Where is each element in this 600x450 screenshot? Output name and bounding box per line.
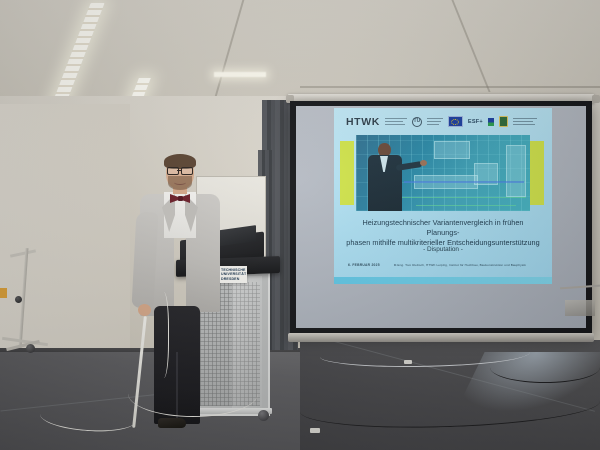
screen-bottom-bar [288, 333, 594, 342]
htwk-subtitle-lines [385, 118, 407, 125]
slide-accent-bar-right [530, 141, 544, 205]
slide-byline: M.Eng. Tom Rudisch, HTWK Leipzig, Instit… [394, 263, 526, 267]
slide-date: 6. Februar 2025 [348, 263, 380, 267]
flipchart-marker [0, 288, 7, 298]
tud-logo-lines [427, 118, 443, 125]
power-plug [404, 360, 412, 364]
slide-hero-photo [356, 135, 530, 211]
power-plug [310, 428, 320, 433]
left-wall [0, 104, 130, 354]
presenter-cane [132, 316, 147, 428]
floor-cable [128, 370, 258, 417]
tud-circle-logo-icon: TU [412, 117, 422, 127]
photo-equipment [434, 141, 470, 159]
glasses-icon [167, 167, 193, 173]
photo-equipment [506, 145, 526, 197]
slide-title: Heizungstechnischer Variantenvergleich i… [346, 218, 540, 248]
slide-title-line-1: Heizungstechnischer Variantenvergleich i… [346, 218, 540, 238]
slide-bottom-strip [334, 277, 552, 284]
slide-subtitle: - Disputation - [346, 246, 540, 253]
flipchart-stand-knob [15, 296, 22, 303]
presenter-smile [174, 180, 186, 185]
presenter-hand [138, 304, 151, 316]
presenter-shoe [158, 418, 186, 428]
esf-plus-logo: ESF+ [468, 119, 483, 125]
ceiling-panel-line [300, 86, 600, 88]
photo-overlay-line [416, 205, 516, 206]
photo-overlay-line [404, 181, 524, 183]
room-photo-scene: HTWK TU ESF+ [0, 0, 600, 450]
photo-person-hand [420, 160, 427, 166]
caster-wheel [258, 410, 269, 421]
photo-overlay-line [400, 197, 526, 198]
saxony-logo-lines [513, 118, 537, 125]
screen-housing-cap [592, 95, 600, 103]
saxony-crest-icon [499, 116, 508, 127]
esf-badge-icon [488, 118, 494, 126]
caster-wheel [26, 344, 35, 353]
wall-cable [156, 292, 169, 378]
equipment-box [565, 300, 595, 316]
htwk-wordmark-logo: HTWK [346, 116, 380, 128]
presenter-bow-tie-knot [178, 196, 183, 201]
ceiling-light-strip-far [214, 72, 266, 77]
eu-flag-icon [448, 116, 463, 127]
photo-person [366, 143, 406, 211]
slide-logo-bar: HTWK TU ESF+ [334, 113, 552, 130]
presentation-slide: HTWK TU ESF+ [334, 108, 552, 284]
slide-accent-bar-left [340, 141, 354, 205]
slide-footer: 6. Februar 2025 M.Eng. Tom Rudisch, HTWK… [348, 263, 540, 267]
floor-cable-dark [490, 352, 600, 383]
tud-monogram: TU [414, 119, 421, 124]
